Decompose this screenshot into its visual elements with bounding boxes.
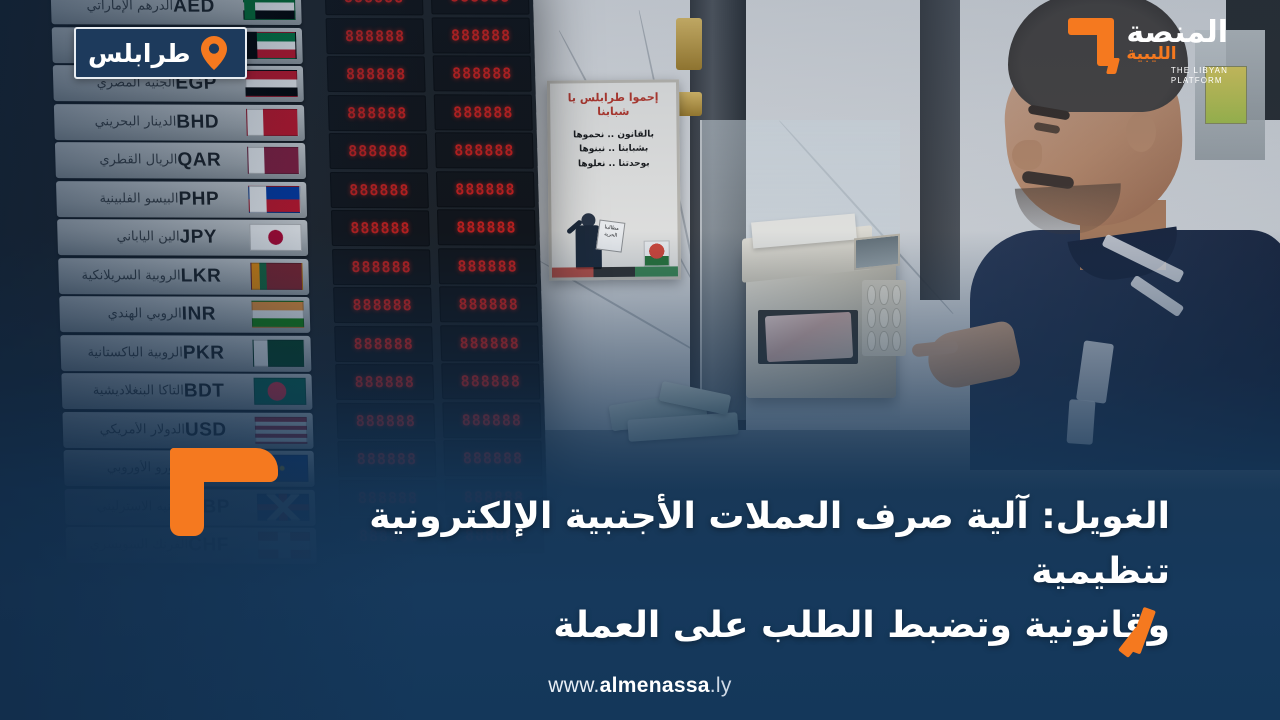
orange-bracket-accent-icon (170, 448, 278, 536)
url-tld: .ly (710, 674, 732, 697)
orange-check-accent-icon (1116, 608, 1172, 654)
news-card: إحموا طرابلس يا شبابنا بالقانون .. نحموه… (0, 0, 1280, 720)
brand-logo[interactable]: المنصة الليبية THE LIBYAN PLATFORM (1064, 16, 1228, 86)
location-badge[interactable]: طرابلس (74, 27, 247, 79)
brand-name-en-line1: THE LIBYAN (1171, 66, 1228, 75)
brand-subname-arabic: الليبية (1126, 46, 1176, 63)
headline-line-2: وقانونية وتضبط الطلب على العملة (290, 599, 1170, 654)
url-prefix: www. (548, 674, 599, 697)
website-url[interactable]: www.almenassa.ly (0, 674, 1280, 698)
url-name: almenassa (600, 674, 710, 697)
location-label: طرابلس (88, 41, 191, 66)
map-pin-icon (201, 36, 227, 70)
headline-line-1: الغويل: آلية صرف العملات الأجنبية الإلكت… (369, 496, 1170, 592)
brand-bracket-icon (1064, 16, 1120, 72)
headline: الغويل: آلية صرف العملات الأجنبية الإلكت… (290, 490, 1170, 654)
brand-name-en-line2: PLATFORM (1171, 76, 1223, 85)
